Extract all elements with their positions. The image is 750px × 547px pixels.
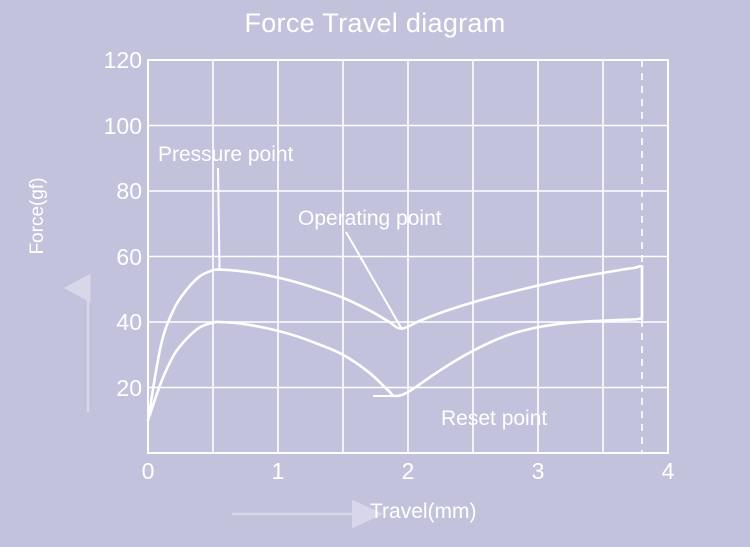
x-axis-title: Travel(mm) [370,500,477,524]
annotation-pressure-point: Pressure point [158,143,293,167]
pressure-point-leader [218,168,220,270]
y-tick-40: 40 [82,309,142,336]
y-tick-20: 20 [82,375,142,402]
y-tick-60: 60 [82,244,142,271]
x-tick-2: 2 [388,458,428,485]
y-axis-title: Force(gf) [27,156,49,276]
x-tick-3: 3 [518,458,558,485]
chart-stage: Force Travel diagram Force(gf) Travel(mm… [0,0,750,547]
y-tick-100: 100 [82,113,142,140]
x-tick-1: 1 [258,458,298,485]
page-title: Force Travel diagram [0,8,750,39]
y-tick-120: 120 [82,47,142,74]
release-curve [148,266,642,420]
annotation-operating-point: Operating point [298,207,442,231]
annotation-reset-point: Reset point [441,407,547,431]
y-tick-80: 80 [82,178,142,205]
force-travel-chart [0,0,750,547]
x-tick-4: 4 [648,458,688,485]
x-tick-0: 0 [128,458,168,485]
